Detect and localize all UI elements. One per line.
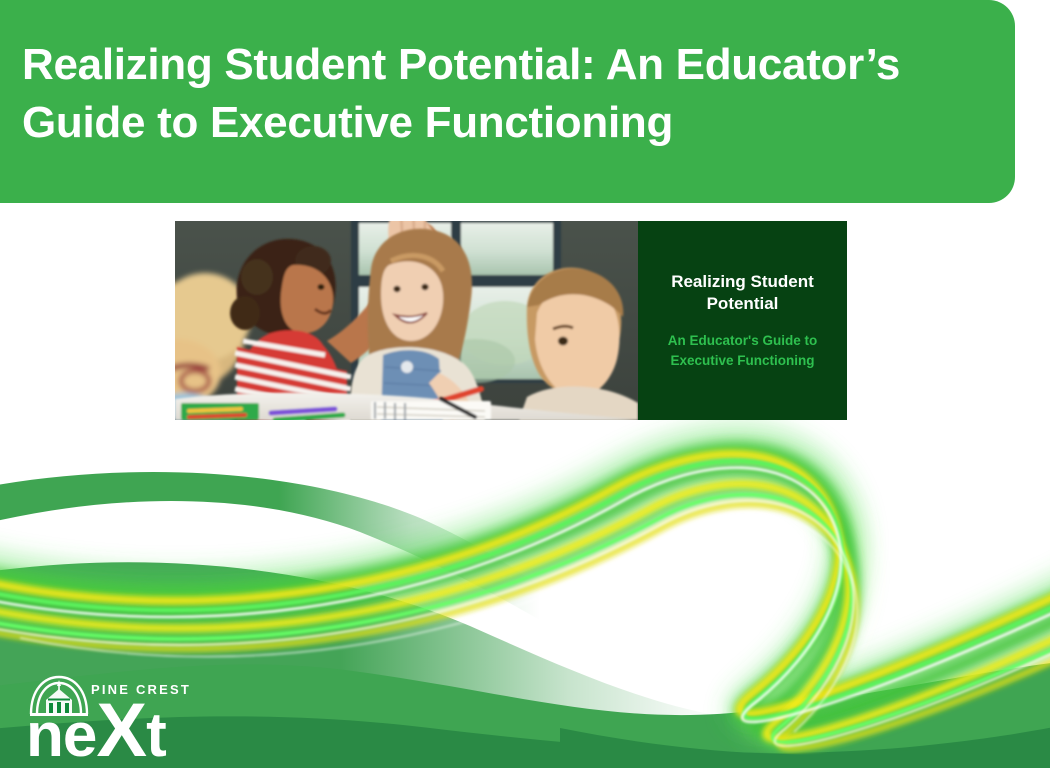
- slide-page: Realizing Student Potential: An Educator…: [0, 0, 1050, 768]
- course-cover-thumbnail[interactable]: Realizing Student Potential An Educator'…: [175, 221, 847, 420]
- thumbnail-title: Realizing Student Potential: [646, 271, 839, 315]
- thumbnail-text-panel: Realizing Student Potential An Educator'…: [638, 221, 847, 420]
- page-title: Realizing Student Potential: An Educator…: [22, 36, 982, 152]
- logo-wordmark: neXt: [26, 700, 166, 767]
- header-banner: Realizing Student Potential: An Educator…: [0, 0, 1015, 203]
- classroom-students-high-five-photo: [175, 221, 638, 420]
- logo-wordmark-x: X: [96, 688, 146, 768]
- thumbnail-subtitle: An Educator's Guide to Executive Functio…: [646, 331, 839, 371]
- logo-wordmark-pre: ne: [26, 701, 96, 768]
- logo-wordmark-post: t: [146, 701, 166, 768]
- pine-crest-next-logo[interactable]: PINE CREST neXt: [28, 672, 218, 768]
